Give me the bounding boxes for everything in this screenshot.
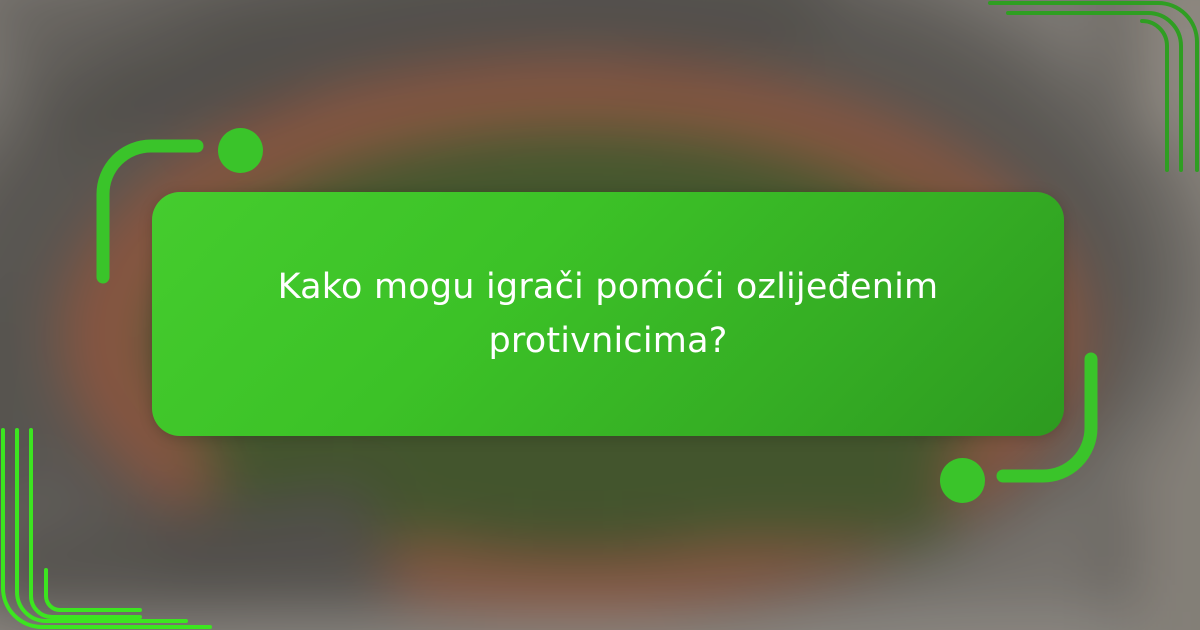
question-card: Kako mogu igrači pomoći ozlijeđenim prot… bbox=[152, 192, 1064, 436]
question-text: Kako mogu igrači pomoći ozlijeđenim prot… bbox=[268, 260, 948, 369]
social-card-canvas: Kako mogu igrači pomoći ozlijeđenim prot… bbox=[0, 0, 1200, 630]
dot-accent-bottom-right bbox=[940, 458, 985, 503]
dot-accent-top-left bbox=[218, 128, 263, 173]
